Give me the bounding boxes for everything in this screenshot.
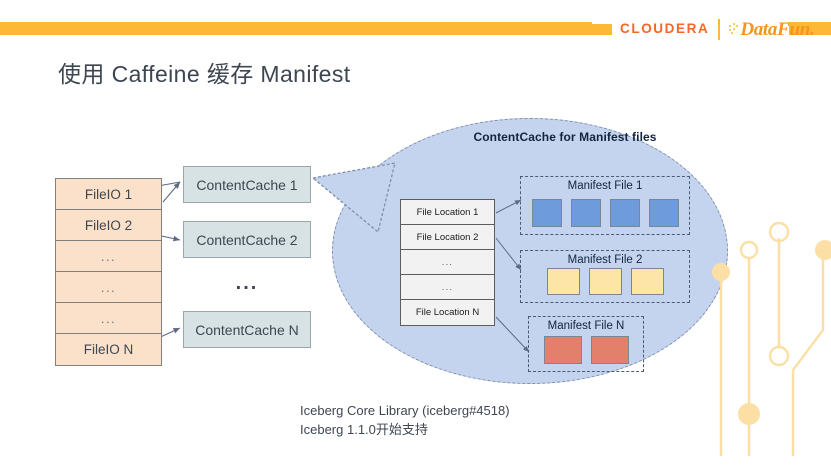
- fileio-cell: ...: [56, 272, 161, 303]
- contentcache-box: ContentCache 1: [183, 166, 311, 203]
- contentcache-box: ContentCache N: [183, 311, 311, 348]
- header-accent-bar-left: [0, 22, 592, 35]
- file-location-row: ...: [401, 275, 494, 300]
- fileio-cell: FileIO 2: [56, 210, 161, 241]
- manifest-block-row: [521, 268, 689, 295]
- fileio-cell: ...: [56, 303, 161, 334]
- cloudera-mark-icon: [590, 24, 612, 35]
- manifest-file-group: Manifest File 1: [520, 176, 690, 235]
- manifest-file-group: Manifest File 2: [520, 250, 690, 303]
- fileio-cell: FileIO 1: [56, 179, 161, 210]
- cloudera-logo-text: CLOUDERA: [620, 22, 709, 36]
- fileio-cell: FileIO N: [56, 334, 161, 365]
- caption-line-1: Iceberg Core Library (iceberg#4518): [300, 402, 510, 421]
- fileio-cell: ...: [56, 241, 161, 272]
- contentcache-ellipsis: ...: [183, 272, 311, 295]
- manifest-block: [532, 199, 562, 227]
- datafun-dots-icon: [729, 23, 739, 35]
- file-location-row: File Location 1: [401, 200, 494, 225]
- manifest-block: [547, 268, 580, 295]
- caption-line-2: Iceberg 1.1.0开始支持: [300, 421, 510, 440]
- manifest-block: [589, 268, 622, 295]
- manifest-block: [571, 199, 601, 227]
- page-title: 使用 Caffeine 缓存 Manifest: [58, 55, 351, 89]
- manifest-block: [591, 336, 629, 364]
- brand-logos: CLOUDERA DataFun.: [590, 18, 814, 40]
- manifest-block: [610, 199, 640, 227]
- manifest-file-label: Manifest File 1: [521, 180, 689, 192]
- contentcache-box: ContentCache 2: [183, 221, 311, 258]
- manifest-file-label: Manifest File N: [529, 320, 643, 332]
- manifest-file-label: Manifest File 2: [521, 254, 689, 266]
- manifest-block-row: [521, 199, 689, 227]
- manifest-block: [649, 199, 679, 227]
- file-location-row: File Location 2: [401, 225, 494, 250]
- slide-canvas: CLOUDERA DataFun. 使用 Caffeine 缓存 Manifes…: [0, 0, 831, 468]
- file-location-row: File Location N: [401, 300, 494, 325]
- manifest-block: [544, 336, 582, 364]
- manifest-file-group: Manifest File N: [528, 316, 644, 372]
- fileio-column: FileIO 1 FileIO 2 ... ... ... FileIO N: [55, 178, 162, 366]
- manifest-block-row: [529, 336, 643, 364]
- brand-divider: [718, 19, 720, 40]
- manifest-block: [631, 268, 664, 295]
- callout-title: ContentCache for Manifest files: [450, 130, 680, 144]
- datafun-logo-text: DataFun.: [740, 20, 814, 39]
- file-location-row: ...: [401, 250, 494, 275]
- footnote-caption: Iceberg Core Library (iceberg#4518) Iceb…: [300, 402, 510, 440]
- decorative-circuit-art: [701, 218, 831, 468]
- file-location-table: File Location 1 File Location 2 ... ... …: [400, 199, 495, 326]
